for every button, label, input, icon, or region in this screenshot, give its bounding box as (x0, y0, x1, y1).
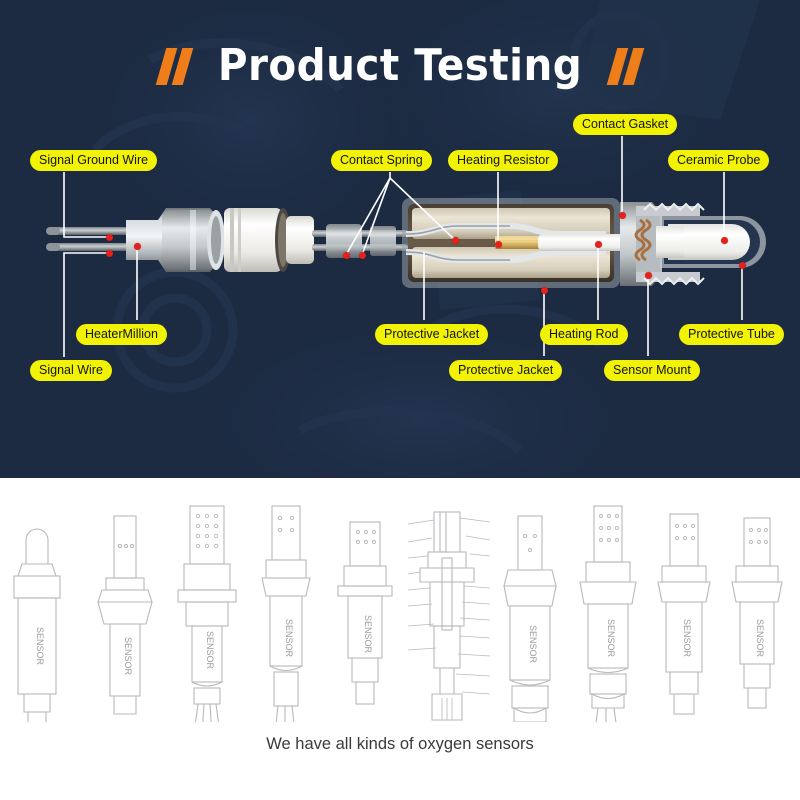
marker-sensor-mount (645, 272, 652, 279)
marker-heating-rod (595, 241, 602, 248)
sensor-drawing-4: SENSOR (262, 506, 310, 722)
svg-text:SENSOR: SENSOR (528, 625, 538, 664)
sensor-drawing-10: SENSOR (732, 518, 782, 708)
svg-text:SENSOR: SENSOR (606, 619, 616, 658)
svg-text:SENSOR: SENSOR (284, 619, 294, 658)
svg-text:SENSOR: SENSOR (363, 615, 373, 654)
sensor-drawing-6-cutaway (408, 512, 490, 720)
svg-text:SENSOR: SENSOR (205, 631, 215, 670)
svg-text:SENSOR: SENSOR (123, 637, 133, 676)
sensor-drawing-2: SENSOR (98, 516, 152, 714)
svg-text:SENSOR: SENSOR (682, 619, 692, 658)
label-protective-tube: Protective Tube (679, 324, 784, 345)
label-sensor-mount: Sensor Mount (604, 360, 700, 381)
marker-contact-gasket (619, 212, 626, 219)
svg-text:SENSOR: SENSOR (35, 627, 45, 666)
sensor-drawing-9: SENSOR (658, 514, 710, 714)
hero-panel: Product Testing (0, 0, 800, 478)
label-heating-rod: Heating Rod (540, 324, 628, 345)
label-protective-jacket-2: Protective Jacket (449, 360, 562, 381)
svg-text:SENSOR: SENSOR (755, 619, 765, 658)
label-signal-ground-wire: Signal Ground Wire (30, 150, 157, 171)
marker-contact-spring-b (343, 252, 350, 259)
sensor-drawing-7: SENSOR (504, 516, 556, 722)
marker-ceramic-probe (721, 237, 728, 244)
marker-signal-wire (106, 250, 113, 257)
label-ceramic-probe: Ceramic Probe (668, 150, 769, 171)
label-signal-wire: Signal Wire (30, 360, 112, 381)
gallery-caption: We have all kinds of oxygen sensors (0, 735, 800, 754)
sensor-drawing-5: SENSOR (338, 522, 392, 704)
marker-signal-ground-wire (106, 234, 113, 241)
product-infographic: Product Testing (0, 0, 800, 800)
label-heater-million: HeaterMillion (76, 324, 167, 345)
marker-protective-jacket-1 (359, 252, 366, 259)
sensor-lineup: SENSOR SENSOR (0, 492, 800, 722)
marker-protective-jacket-2 (541, 287, 548, 294)
marker-heater-million (134, 243, 141, 250)
marker-protective-tube (739, 262, 746, 269)
sensor-drawing-3: SENSOR (178, 506, 236, 722)
sensor-drawing-1: SENSOR (14, 529, 60, 722)
label-contact-gasket: Contact Gasket (573, 114, 677, 135)
marker-heating-resistor (495, 241, 502, 248)
label-protective-jacket-1: Protective Jacket (375, 324, 488, 345)
leader-lines (0, 0, 800, 478)
marker-contact-spring-a (452, 237, 459, 244)
label-contact-spring: Contact Spring (331, 150, 432, 171)
label-heating-resistor: Heating Resistor (448, 150, 558, 171)
sensor-drawing-8: SENSOR (580, 506, 636, 722)
